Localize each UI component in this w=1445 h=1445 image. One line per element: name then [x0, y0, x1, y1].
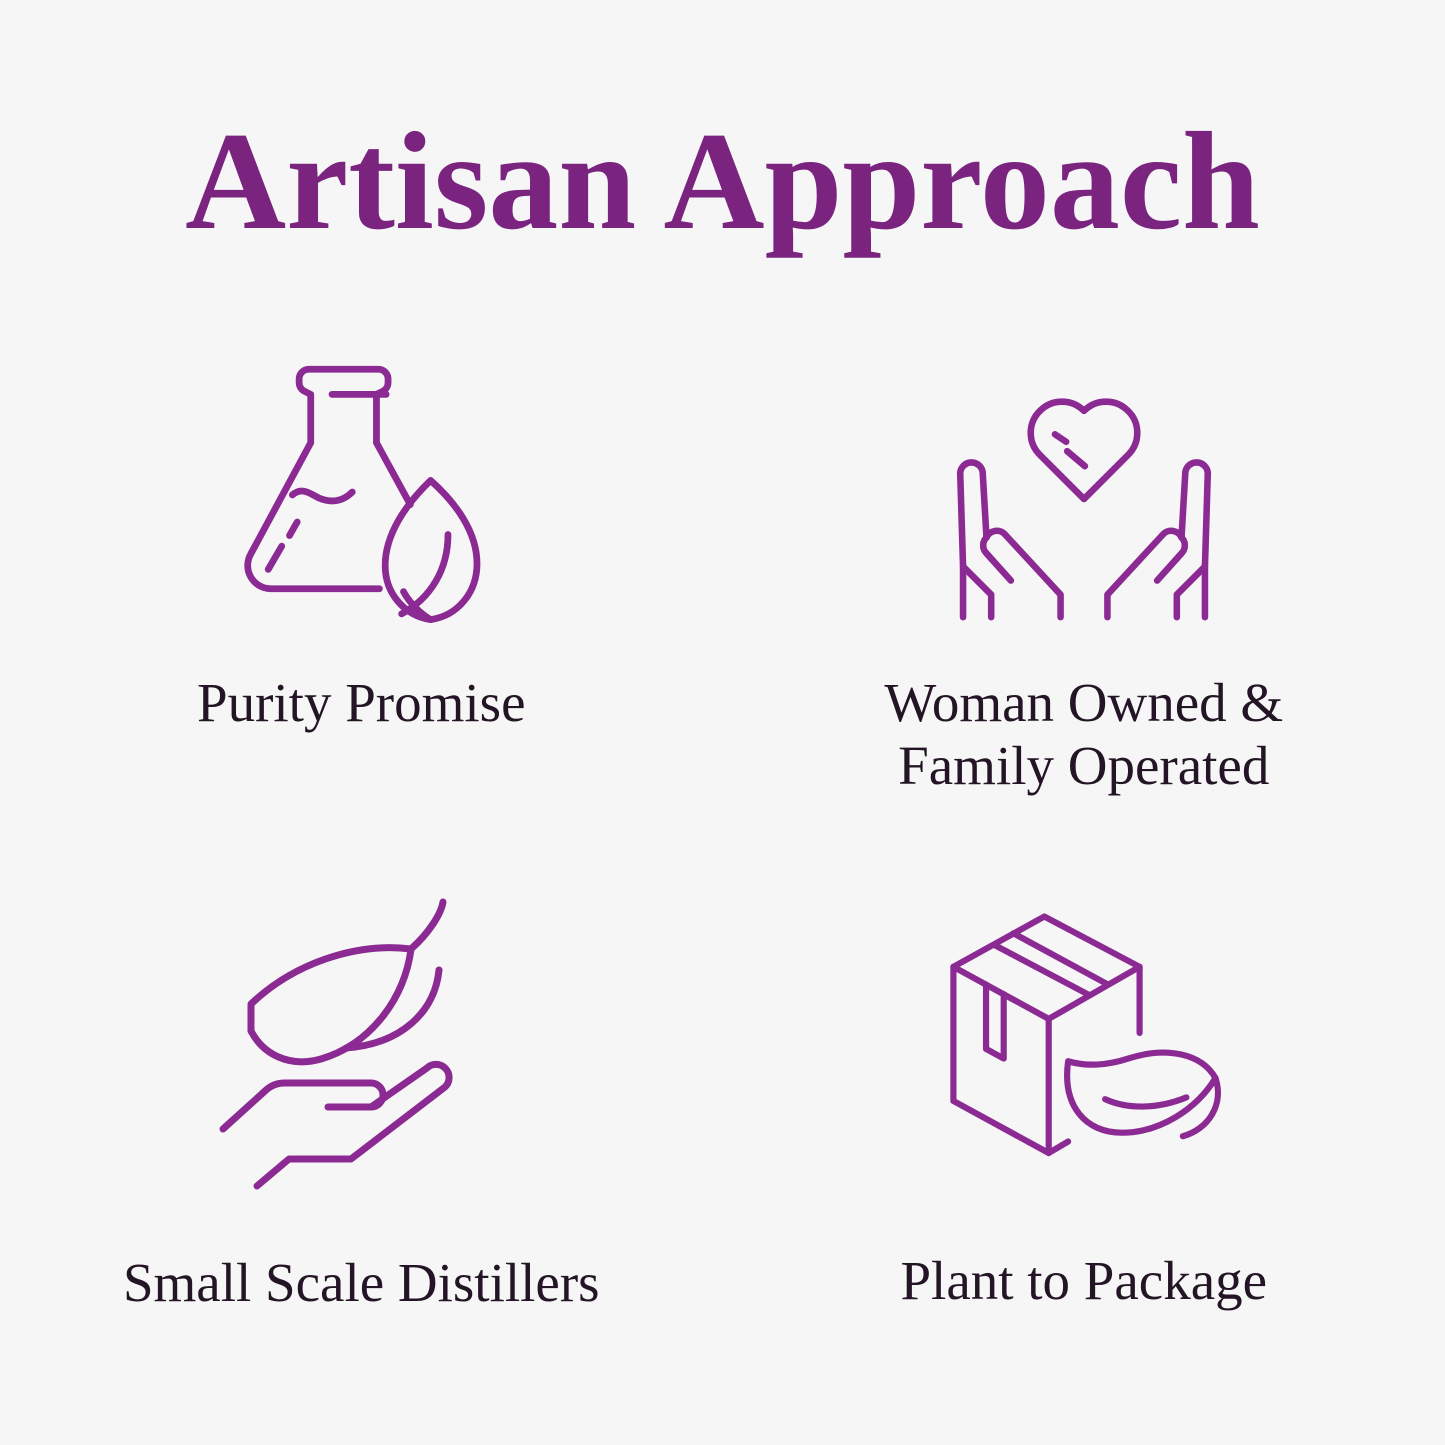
feature-small-scale-distillers: Small Scale Distillers	[0, 860, 723, 1390]
artisan-approach-infographic: Artisan Approach	[0, 0, 1445, 1445]
feature-woman-owned-family-operated: Woman Owned & Family Operated	[723, 330, 1445, 860]
feature-grid: Purity Promise	[0, 330, 1445, 1390]
feature-label: Purity Promise	[197, 672, 526, 735]
feature-purity-promise: Purity Promise	[0, 330, 723, 860]
hand-holding-leaf-icon	[211, 896, 511, 1186]
feature-label: Plant to Package	[900, 1250, 1267, 1313]
feature-label: Small Scale Distillers	[123, 1252, 600, 1315]
hands-holding-heart-icon	[934, 354, 1234, 644]
flask-with-leaf-icon	[211, 348, 511, 638]
box-with-leaf-icon	[934, 888, 1234, 1178]
feature-plant-to-package: Plant to Package	[723, 860, 1445, 1390]
page-title: Artisan Approach	[0, 108, 1445, 255]
feature-label: Woman Owned & Family Operated	[884, 672, 1283, 797]
